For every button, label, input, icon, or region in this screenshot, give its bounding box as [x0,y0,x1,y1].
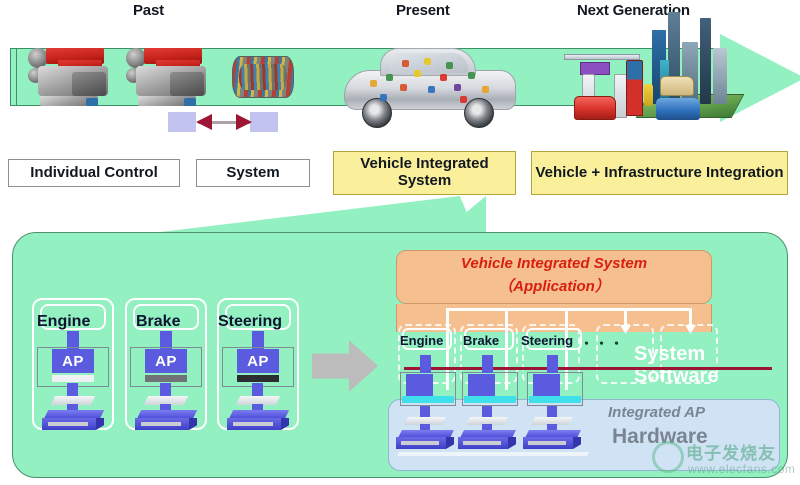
ecu-connector-brake-mid [160,383,171,397]
hardware-base-3 [523,430,581,449]
system-software-divider-line [404,367,772,370]
next-gen-car-tan [660,76,694,96]
era-title-present: Present [396,2,450,19]
transition-arrow-icon [312,340,378,392]
ap-chip-engine: AP [52,349,94,373]
hardware-rail [397,452,589,456]
hardware-base-2 [458,430,516,449]
next-gen-car-blue [656,98,700,120]
ecu-hardware-base-brake [135,410,197,430]
integrated-connector-3 [547,355,558,373]
hardware-label-line1: Integrated AP [608,404,705,421]
timeline-start-line-inner [16,48,17,106]
transmission-cutaway-photo [232,56,294,98]
timeline-start-line-outer [10,48,11,106]
comparison-block-left [168,112,196,132]
stage-label-system: System [196,159,310,187]
system-software-label: System Software [634,343,784,387]
ecu-connector-steering-mid [252,383,263,397]
stage-label-vehicle-infrastructure-integration: Vehicle + Infrastructure Integration [531,151,788,195]
ap-bar-brake [145,375,187,382]
vehicle-cutaway-photo [340,40,520,126]
comparison-indicator [168,112,278,134]
ecu-name-brake: Brake [136,313,180,331]
car-wheel-front [362,98,392,128]
comparison-block-right [250,112,278,132]
watermark-url: www.elecfans.com [688,462,795,476]
ecu-hardware-base-steering [227,410,289,430]
system-software-label-line1: System [634,343,784,365]
integrated-name-ellipsis: ・・・ [580,333,625,352]
integrated-accent-bar-1 [402,396,454,403]
next-gen-car-red [574,96,616,120]
integrated-name-steering: Steering [521,333,573,348]
bus-branch-5 [689,308,692,326]
integrated-connector-2 [482,355,493,373]
city-tower-4 [700,18,711,104]
diagram-canvas: Past Present Next Generation [0,0,800,485]
bus-branch-4 [624,308,627,326]
ap-bar-steering [237,375,279,382]
integrated-core-chip-2 [468,374,495,396]
ecu-name-engine: Engine [37,313,90,331]
integrated-name-engine: Engine [400,333,443,348]
attendant-figure [644,84,653,106]
ap-chip-brake: AP [145,349,187,373]
engine-photo-1 [28,48,116,110]
application-layer-box: Vehicle Integrated System （Application） [396,250,712,304]
application-title-line1: Vehicle Integrated System [397,255,711,272]
integrated-connector-1 [420,355,431,373]
integrated-accent-bar-3 [529,396,581,403]
watermark-brand: 电子发烧友 [686,439,776,464]
stage-label-individual-control: Individual Control [8,159,180,187]
era-title-past: Past [133,2,164,19]
ap-chip-steering: AP [237,349,279,373]
ap-bar-engine [52,375,94,382]
application-title-line2: （Application） [397,275,711,296]
ecu-hardware-base-engine [42,410,104,430]
city-tower-5 [713,48,727,104]
hardware-base-1 [396,430,454,449]
car-wheel-rear [464,98,494,128]
watermark: 电子发烧友 www.elecfans.com [652,437,798,481]
integrated-core-chip-3 [533,374,560,396]
integrated-core-chip-1 [406,374,433,396]
engine-photo-2 [126,48,214,110]
next-generation-illustration [556,10,746,132]
application-bus-line [446,308,692,311]
integrated-accent-bar-2 [464,396,516,403]
ecu-connector-engine-mid [67,383,78,397]
comparison-arrowhead-left-icon [196,114,212,130]
stage-label-vehicle-integrated-system: Vehicle Integrated System [333,151,516,195]
fuel-pump-red [626,60,643,116]
watermark-logo-icon [652,441,684,473]
ecu-name-steering: Steering [218,313,282,331]
integrated-name-brake: Brake [463,333,499,348]
